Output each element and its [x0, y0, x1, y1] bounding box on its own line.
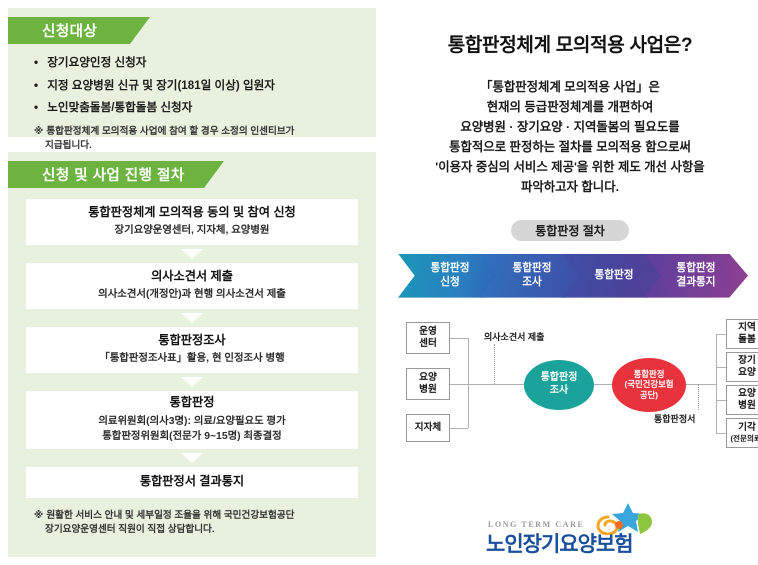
section-application-targets: 신청대상 • 장기요양인정 신청자 • 지정 요양병원 신규 및 장기(181일… — [8, 8, 376, 137]
description-line: 현재의 등급판정체계를 개편하여 — [382, 97, 758, 117]
diagram-box-label: 운영 센터 — [419, 326, 437, 349]
diagram-connector — [594, 384, 614, 385]
section-header-application-targets: 신청대상 — [8, 17, 130, 44]
flow-arrow-4-container — [26, 449, 358, 467]
flow-arrow-1-container — [26, 245, 358, 263]
diagram-box-line-2: 병원 — [738, 400, 756, 411]
flow-step-title: 의사소견서 제출 — [32, 269, 352, 284]
section-header-process-flow: 신청 및 사업 진행 절차 — [8, 161, 204, 188]
diagram-box-label: 지역 돌봄 — [738, 322, 756, 345]
note-mark-icon: ※ — [34, 126, 43, 137]
diagram-dotted-connector — [494, 344, 495, 384]
flow-step-subtitle: 의사소견서(개정안)과 현행 의사소견서 제출 — [32, 287, 352, 302]
diagram-dotted-connector — [698, 384, 699, 410]
diagram-input-box-3: 지자체 — [406, 414, 450, 442]
flow-step-1: 통합판정체계 모의적용 동의 및 참여 신청 장기요양운영센터, 지자체, 요양… — [26, 199, 358, 245]
diagram-box-line-2: 요양 — [738, 367, 756, 378]
page-title: 통합판정체계 모의적용 사업은? — [382, 30, 758, 57]
flow-step-title: 통합판정체계 모의적용 동의 및 참여 신청 — [32, 205, 352, 220]
chevron-line-1: 통합판정 — [431, 262, 470, 274]
diagram-box-line-1: 운영 — [419, 326, 437, 337]
chevron-line-2: 결과통지 — [677, 276, 716, 288]
diagram-box-label: 요양 병원 — [419, 372, 437, 395]
application-targets-list: • 장기요양인정 신청자 • 지정 요양병원 신규 및 장기(181일 이상) … — [34, 57, 376, 114]
flow-step-subtitle: 장기요양운영센터, 지자체, 요양병원 — [32, 223, 352, 238]
section-header-label: 신청대상 — [42, 20, 97, 41]
flow-step-2: 의사소견서 제출 의사소견서(개정안)과 현행 의사소견서 제출 — [26, 263, 358, 309]
diagram-node-line-1: 통합판정 — [541, 372, 578, 383]
diagram-connector — [450, 428, 468, 429]
chevron-step-text: 통합판정 — [595, 269, 634, 282]
chevron-step-text: 통합판정 결과통지 — [677, 262, 716, 288]
note-mark-icon: ※ — [34, 510, 43, 521]
chevron-down-icon — [181, 249, 203, 259]
diagram-node-line-2: 조사 — [550, 385, 568, 396]
diagram-node-label: 통합판정 (국민건강보험 공단) — [624, 369, 673, 401]
bullet-dot-icon: • — [34, 102, 44, 114]
diagram-box-line-2: 병원 — [419, 384, 437, 395]
chevron-down-icon — [181, 453, 203, 463]
list-item-label: 장기요양인정 신청자 — [47, 56, 146, 69]
process-flow-note: ※원활한 서비스 안내 및 세부일정 조율을 위해 국민건강보험공단 장기요양운… — [34, 509, 359, 537]
flow-arrow-2-container — [26, 309, 358, 327]
list-item: • 장기요양인정 신청자 — [34, 57, 376, 69]
diagram-output-box-3: 요양 병원 — [726, 385, 758, 415]
diagram-node-survey: 통합판정 조사 — [524, 360, 594, 410]
flow-step-title: 통합판정조사 — [32, 333, 352, 348]
chevron-line-2: 신청 — [440, 276, 460, 288]
diagram-box-line-1: 요양 — [738, 388, 756, 399]
diagram-node-line-2: (국민건강보험 — [624, 379, 673, 389]
logo-korean-text: 노인장기요양보험 — [486, 528, 633, 558]
list-item-label: 지정 요양병원 신규 및 장기(181일 이상) 입원자 — [47, 79, 275, 92]
chevron-down-icon — [181, 377, 203, 387]
diagram-output-box-4: 기각 (전문의뢰) — [726, 418, 758, 448]
bullet-dot-icon: • — [34, 80, 44, 92]
diagram-connector — [686, 384, 716, 385]
application-targets-note: ※통합판정체계 모의적용 사업에 참여 할 경우 소정의 인센티브가 지급됩니다… — [34, 125, 359, 153]
flow-step-3: 통합판정조사 「통합판정조사표」활용, 현 인정조사 병행 — [26, 327, 358, 373]
flow-step-subtitle: 「통합판정조사표」활용, 현 인정조사 병행 — [32, 351, 352, 366]
flow-step-title: 통합판정 — [32, 395, 352, 410]
description-line: 파악하고자 합니다. — [382, 177, 758, 197]
diagram-connector — [468, 338, 469, 428]
diagram-box-label: 기각 (전문의뢰) — [730, 422, 758, 443]
diagram-label-doctor-note: 의사소견서 제출 — [484, 330, 544, 343]
infographic-page: 신청대상 • 장기요양인정 신청자 • 지정 요양병원 신규 및 장기(181일… — [0, 0, 758, 565]
program-description: 「통합판정체계 모의적용 사업」은 현재의 등급판정체계를 개편하여 요양병원 … — [382, 77, 758, 198]
note-line-2: 장기요양운영센터 직원이 직접 상담합니다. — [34, 523, 359, 537]
note-line-2: 지급됩니다. — [34, 139, 359, 153]
bullet-dot-icon: • — [34, 57, 44, 69]
description-line: 통합적으로 판정하는 절차를 모의적용 함으로써 — [382, 137, 758, 157]
diagram-node-label: 통합판정 조사 — [541, 372, 578, 397]
flow-step-title: 통합판정서 결과통지 — [32, 474, 352, 489]
description-line: 요양병원 · 장기요양 · 지역돌봄의 필요도를 — [382, 117, 758, 137]
diagram-box-sub-label: (전문의뢰) — [730, 434, 758, 443]
section-header-label: 신청 및 사업 진행 절차 — [42, 164, 185, 185]
list-item-label: 노인맞춤돌봄/통합돌봄 신청자 — [47, 101, 192, 114]
list-item: • 지정 요양병원 신규 및 장기(181일 이상) 입원자 — [34, 80, 376, 92]
diagram-output-box-2: 장기 요양 — [726, 352, 758, 382]
process-chevron-bar: 통합판정 신청 통합판정 조사 통합판정 통합판정 결과통지 — [398, 254, 742, 298]
diagram-input-box-2: 요양 병원 — [406, 368, 450, 400]
note-line-1: 원활한 서비스 안내 및 세부일정 조율을 위해 국민건강보험공단 — [46, 510, 294, 521]
diagram-connector — [716, 334, 717, 434]
diagram-box-label: 장기 요양 — [738, 355, 756, 378]
organization-logo: LONG TERM CARE 노인장기요양보험 — [486, 501, 676, 553]
diagram-connector — [716, 400, 726, 401]
chevron-line-1: 통합판정 — [513, 262, 552, 274]
diagram-connector — [716, 367, 726, 368]
diagram-box-line-1: 기각 — [738, 422, 756, 433]
chevron-line-2: 조사 — [522, 276, 542, 288]
note-line-1: 통합판정체계 모의적용 사업에 참여 할 경우 소정의 인센티브가 — [46, 126, 294, 137]
diagram-connector — [450, 384, 468, 385]
flow-arrow-3-container — [26, 373, 358, 391]
chevron-line-1: 통합판정 — [595, 269, 634, 281]
flow-step-4: 통합판정 의료위원회(의사3명): 의료/요양필요도 평가 통합판정위원회(전문… — [26, 391, 358, 449]
diagram-box-line-2: 돌봄 — [738, 334, 756, 345]
diagram-box-label: 지자체 — [415, 422, 441, 434]
diagram-box-line-2: 센터 — [419, 338, 437, 349]
section-process-flow: 신청 및 사업 진행 절차 통합판정체계 모의적용 동의 및 참여 신청 장기요… — [8, 152, 376, 557]
diagram-node-decision: 통합판정 (국민건강보험 공단) — [612, 358, 686, 412]
chevron-step-text: 통합판정 신청 — [431, 262, 470, 288]
judgement-flow-diagram: 운영 센터 요양 병원 지자체 의사소견서 제출 — [398, 316, 742, 466]
chevron-line-1: 통합판정 — [677, 262, 716, 274]
diagram-connector — [468, 384, 524, 385]
diagram-connector — [716, 334, 726, 335]
diagram-input-box-1: 운영 센터 — [406, 322, 450, 354]
diagram-box-line-1: 요양 — [419, 372, 437, 383]
diagram-label-result-doc: 통합판정서 — [654, 412, 695, 425]
description-line: 「통합판정체계 모의적용 사업」은 — [382, 77, 758, 97]
left-column: 신청대상 • 장기요양인정 신청자 • 지정 요양병원 신규 및 장기(181일… — [0, 0, 382, 565]
diagram-connector — [716, 433, 726, 434]
process-flow-chart: 통합판정체계 모의적용 동의 및 참여 신청 장기요양운영센터, 지자체, 요양… — [26, 199, 358, 498]
chevron-step-text: 통합판정 조사 — [513, 262, 552, 288]
right-column: 통합판정체계 모의적용 사업은? 「통합판정체계 모의적용 사업」은 현재의 등… — [382, 0, 758, 565]
diagram-node-line-1: 통합판정 — [634, 369, 665, 379]
diagram-output-box-1: 지역 돌봄 — [726, 319, 758, 349]
flow-step-subtitle: 의료위원회(의사3명): 의료/요양필요도 평가 통합판정위원회(전문가 9~1… — [32, 414, 352, 444]
diagram-box-label: 요양 병원 — [738, 388, 756, 411]
diagram-connector — [450, 338, 468, 339]
description-line: '이용자 중심의 서비스 제공'을 위한 제도 개선 사항을 — [382, 157, 758, 177]
list-item: • 노인맞춤돌봄/통합돌봄 신청자 — [34, 102, 376, 114]
flow-step-5: 통합판정서 결과통지 — [26, 467, 358, 498]
chevron-down-icon — [181, 313, 203, 323]
process-pill-label: 통합판정 절차 — [511, 220, 629, 241]
diagram-node-line-3: 공단) — [640, 390, 658, 400]
diagram-box-line-1: 지역 — [738, 322, 756, 333]
diagram-box-line-1: 장기 — [738, 355, 756, 366]
